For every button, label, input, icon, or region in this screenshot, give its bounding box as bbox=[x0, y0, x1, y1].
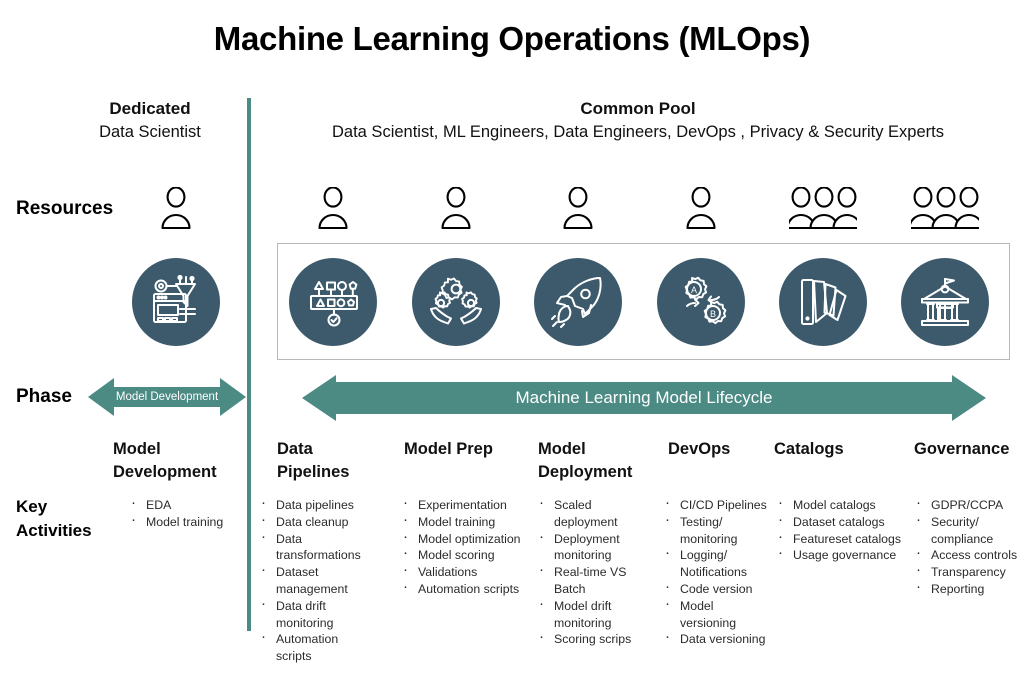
activities-catalogs: Model catalogsDataset catalogsFeatureset… bbox=[775, 497, 905, 564]
activity-list: Data pipelinesData cleanupData transform… bbox=[258, 497, 376, 665]
activity-item: CI/CD Pipelines bbox=[662, 497, 770, 514]
row-label-key-activities-line1: Key bbox=[16, 495, 92, 519]
activity-item: Code version bbox=[662, 581, 770, 598]
column-heading-line2: Development bbox=[113, 461, 217, 484]
column-heading-line1: Model Prep bbox=[404, 438, 493, 461]
activity-list: Model catalogsDataset catalogsFeatureset… bbox=[775, 497, 905, 564]
column-heading-governance: Governance bbox=[914, 438, 1009, 461]
activity-item: Data pipelines bbox=[258, 497, 376, 514]
activity-item: Model catalogs bbox=[775, 497, 905, 514]
resource-people-model-prep bbox=[441, 186, 471, 232]
activity-item: Automation scripts bbox=[400, 581, 530, 598]
column-heading-line1: Governance bbox=[914, 438, 1009, 461]
activity-item: Scaled deployment bbox=[536, 497, 656, 531]
column-heading-line2: Deployment bbox=[538, 461, 632, 484]
activities-model-deployment: Scaled deploymentDeployment monitoringRe… bbox=[536, 497, 656, 648]
data-funnel-dashboard-icon bbox=[132, 258, 220, 346]
activity-list: EDAModel training bbox=[128, 497, 248, 531]
column-heading-line1: Model bbox=[538, 438, 632, 461]
page-title: Machine Learning Operations (MLOps) bbox=[0, 20, 1024, 58]
resource-people-data-pipelines bbox=[318, 186, 348, 232]
activity-item: Featureset catalogs bbox=[775, 531, 905, 548]
row-label-key-activities-line2: Activities bbox=[16, 519, 92, 543]
activity-item: Validations bbox=[400, 564, 530, 581]
resource-people-catalogs bbox=[789, 186, 857, 232]
column-divider bbox=[247, 98, 251, 631]
activity-item: Model training bbox=[128, 514, 248, 531]
activity-item: Data versioning bbox=[662, 631, 770, 648]
activity-item: Data transformations bbox=[258, 531, 376, 565]
resource-people-model-development bbox=[161, 186, 191, 232]
government-building-icon bbox=[901, 258, 989, 346]
svg-text:B: B bbox=[710, 309, 716, 319]
column-heading-line1: Catalogs bbox=[774, 438, 844, 461]
activity-item: Deployment monitoring bbox=[536, 531, 656, 565]
activity-item: Model versioning bbox=[662, 598, 770, 632]
activity-item: Dataset management bbox=[258, 564, 376, 598]
group-title-common-pool: Common Pool bbox=[258, 98, 1018, 120]
resource-people-governance bbox=[911, 186, 979, 232]
activity-list: GDPR/CCPASecurity/ complianceAccess cont… bbox=[913, 497, 1021, 598]
rocket-icon bbox=[534, 258, 622, 346]
column-heading-line1: Data bbox=[277, 438, 349, 461]
group-subtitle-common-pool: Data Scientist, ML Engineers, Data Engin… bbox=[258, 120, 1018, 144]
activity-item: Logging/ Notifications bbox=[662, 547, 770, 581]
activities-model-development: EDAModel training bbox=[128, 497, 248, 531]
phase-arrow-lifecycle-label: Machine Learning Model Lifecycle bbox=[302, 374, 986, 422]
activity-item: Dataset catalogs bbox=[775, 514, 905, 531]
resource-people-model-deployment bbox=[563, 186, 593, 232]
group-header-dedicated: Dedicated Data Scientist bbox=[60, 98, 240, 144]
phase-arrow-lifecycle: Machine Learning Model Lifecycle bbox=[302, 374, 986, 422]
column-heading-line1: DevOps bbox=[668, 438, 730, 461]
phase-arrow-model-development-label: Model Development bbox=[88, 376, 246, 418]
activity-item: Model scoring bbox=[400, 547, 530, 564]
phase-arrow-model-development: Model Development bbox=[88, 376, 246, 418]
resource-people-devops bbox=[686, 186, 716, 232]
group-title-dedicated: Dedicated bbox=[60, 98, 240, 120]
column-heading-model-development: ModelDevelopment bbox=[113, 438, 217, 484]
activity-list: CI/CD PipelinesTesting/ monitoringLoggin… bbox=[662, 497, 770, 648]
activities-governance: GDPR/CCPASecurity/ complianceAccess cont… bbox=[913, 497, 1021, 598]
activity-item: Usage governance bbox=[775, 547, 905, 564]
activity-item: Model optimization bbox=[400, 531, 530, 548]
activity-list: Scaled deploymentDeployment monitoringRe… bbox=[536, 497, 656, 648]
activity-item: GDPR/CCPA bbox=[913, 497, 1021, 514]
swatch-fan-icon bbox=[779, 258, 867, 346]
activity-item: Real-time VS Batch bbox=[536, 564, 656, 598]
activity-item: Transparency bbox=[913, 564, 1021, 581]
row-label-phase: Phase bbox=[16, 385, 72, 409]
row-label-key-activities: Key Activities bbox=[16, 495, 92, 543]
activity-item: Data drift monitoring bbox=[258, 598, 376, 632]
pipeline-flow-icon bbox=[289, 258, 377, 346]
activity-list: ExperimentationModel trainingModel optim… bbox=[400, 497, 530, 598]
activity-item: Security/ compliance bbox=[913, 514, 1021, 548]
activity-item: Scoring scrips bbox=[536, 631, 656, 648]
activity-item: Experimentation bbox=[400, 497, 530, 514]
activities-data-pipelines: Data pipelinesData cleanupData transform… bbox=[258, 497, 376, 665]
column-heading-catalogs: Catalogs bbox=[774, 438, 844, 461]
activities-model-prep: ExperimentationModel trainingModel optim… bbox=[400, 497, 530, 598]
activities-devops: CI/CD PipelinesTesting/ monitoringLoggin… bbox=[662, 497, 770, 648]
svg-text:A: A bbox=[691, 285, 697, 295]
activity-item: Access controls bbox=[913, 547, 1021, 564]
column-heading-line1: Model bbox=[113, 438, 217, 461]
group-header-common-pool: Common Pool Data Scientist, ML Engineers… bbox=[258, 98, 1018, 144]
activity-item: Automation scripts bbox=[258, 631, 376, 665]
column-heading-devops: DevOps bbox=[668, 438, 730, 461]
activity-item: Data cleanup bbox=[258, 514, 376, 531]
group-subtitle-dedicated: Data Scientist bbox=[60, 120, 240, 144]
column-heading-model-deployment: ModelDeployment bbox=[538, 438, 632, 484]
activity-item: Reporting bbox=[913, 581, 1021, 598]
gears-in-hands-icon bbox=[412, 258, 500, 346]
mlops-diagram: Machine Learning Operations (MLOps) Dedi… bbox=[0, 0, 1024, 677]
column-heading-model-prep: Model Prep bbox=[404, 438, 493, 461]
activity-item: EDA bbox=[128, 497, 248, 514]
ab-gears-icon: A B bbox=[657, 258, 745, 346]
activity-item: Model training bbox=[400, 514, 530, 531]
column-heading-line2: Pipelines bbox=[277, 461, 349, 484]
column-heading-data-pipelines: DataPipelines bbox=[277, 438, 349, 484]
row-label-resources: Resources bbox=[16, 197, 113, 221]
activity-item: Model drift monitoring bbox=[536, 598, 656, 632]
activity-item: Testing/ monitoring bbox=[662, 514, 770, 548]
